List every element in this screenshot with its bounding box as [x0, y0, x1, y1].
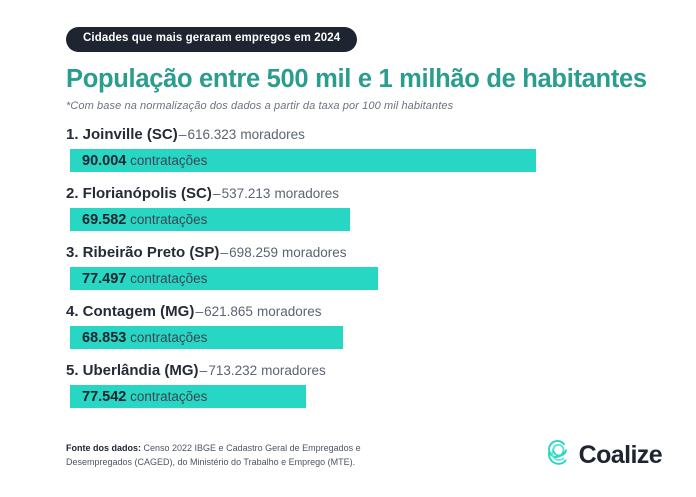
bar-label: 77.497 contratações	[82, 267, 207, 290]
list-item: 5. Uberlândia (MG)–713.232 moradores 77.…	[66, 360, 666, 408]
hires-value: 68.853	[82, 330, 126, 346]
city-name: 1. Joinville (SC)	[66, 126, 178, 143]
page-title: População entre 500 mil e 1 milhão de ha…	[66, 65, 666, 93]
hires-unit: contratações	[130, 330, 207, 345]
population-value: 713.232	[208, 363, 257, 378]
list-item: 2. Florianópolis (SC)–537.213 moradores …	[66, 183, 666, 231]
bar-label: 68.853 contratações	[82, 326, 207, 349]
data-source-note: Fonte dos dados: Censo 2022 IBGE e Cadas…	[66, 442, 426, 470]
list-item: 3. Ribeirão Preto (SP)–698.259 moradores…	[66, 242, 666, 290]
bar-track: 77.497 contratações	[70, 267, 666, 290]
bar-track: 68.853 contratações	[70, 326, 666, 349]
hires-value: 69.582	[82, 212, 126, 228]
list-item: 1. Joinville (SC)–616.323 moradores 90.0…	[66, 124, 666, 172]
ranking-list: 1. Joinville (SC)–616.323 moradores 90.0…	[66, 124, 666, 408]
city-name: 4. Contagem (MG)	[66, 303, 194, 320]
bar-track: 77.542 contratações	[70, 385, 666, 408]
infographic-card: Cidades que mais geraram empregos em 202…	[0, 0, 696, 497]
hires-unit: contratações	[130, 153, 207, 168]
population-unit: moradores	[274, 186, 339, 201]
list-item: 4. Contagem (MG)–621.865 moradores 68.85…	[66, 301, 666, 349]
hires-unit: contratações	[130, 389, 207, 404]
hires-unit: contratações	[130, 271, 207, 286]
coalize-mark-icon	[543, 437, 573, 474]
bar-label: 90.004 contratações	[82, 149, 207, 172]
population-value: 698.259	[229, 245, 278, 260]
separator-dash: –	[178, 126, 188, 142]
footer: Fonte dos dados: Censo 2022 IBGE e Cadas…	[66, 437, 666, 474]
bar-label: 77.542 contratações	[82, 385, 207, 408]
separator-dash: –	[199, 362, 209, 378]
bar-label: 69.582 contratações	[82, 208, 207, 231]
rank-heading: 3. Ribeirão Preto (SP)–698.259 moradores	[66, 242, 666, 264]
population-unit: moradores	[257, 304, 322, 319]
city-name: 3. Ribeirão Preto (SP)	[66, 244, 219, 261]
rank-heading: 1. Joinville (SC)–616.323 moradores	[66, 124, 666, 146]
data-source-label: Fonte dos dados:	[66, 443, 141, 453]
hires-value: 77.542	[82, 389, 126, 405]
header: Cidades que mais geraram empregos em 202…	[66, 27, 666, 113]
population-unit: moradores	[240, 127, 305, 142]
subtitle-note: *Com base na normalização dos dados a pa…	[66, 100, 666, 113]
separator-dash: –	[212, 185, 222, 201]
population-value: 616.323	[188, 127, 237, 142]
hires-value: 77.497	[82, 271, 126, 287]
category-badge: Cidades que mais geraram empregos em 202…	[66, 27, 357, 52]
rank-heading: 2. Florianópolis (SC)–537.213 moradores	[66, 183, 666, 205]
population-unit: moradores	[261, 363, 326, 378]
hires-unit: contratações	[130, 212, 207, 227]
population-value: 537.213	[222, 186, 271, 201]
separator-dash: –	[219, 244, 229, 260]
population-unit: moradores	[282, 245, 347, 260]
rank-heading: 4. Contagem (MG)–621.865 moradores	[66, 301, 666, 323]
hires-value: 90.004	[82, 153, 126, 169]
bar-track: 90.004 contratações	[70, 149, 666, 172]
rank-heading: 5. Uberlândia (MG)–713.232 moradores	[66, 360, 666, 382]
brand-logo: Coalize	[543, 437, 666, 474]
separator-dash: –	[194, 303, 204, 319]
population-value: 621.865	[204, 304, 253, 319]
bar-track: 69.582 contratações	[70, 208, 666, 231]
city-name: 5. Uberlândia (MG)	[66, 362, 199, 379]
brand-name: Coalize	[579, 443, 662, 468]
city-name: 2. Florianópolis (SC)	[66, 185, 212, 202]
